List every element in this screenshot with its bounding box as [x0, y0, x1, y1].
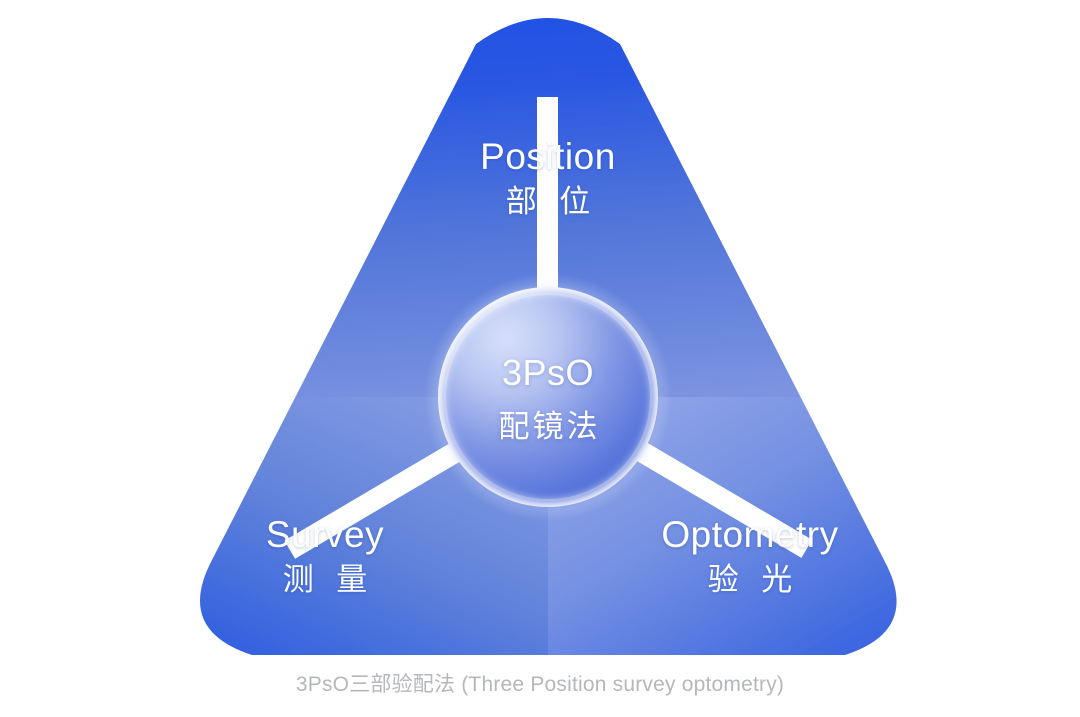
diagram-caption: 3PsO三部验配法 (Three Position survey optomet…	[0, 668, 1080, 698]
three-segment-triangle-diagram	[0, 0, 1080, 717]
diagram-canvas: Position 部 位 Survey 测 量 Optometry 验 光 3P…	[0, 0, 1080, 717]
